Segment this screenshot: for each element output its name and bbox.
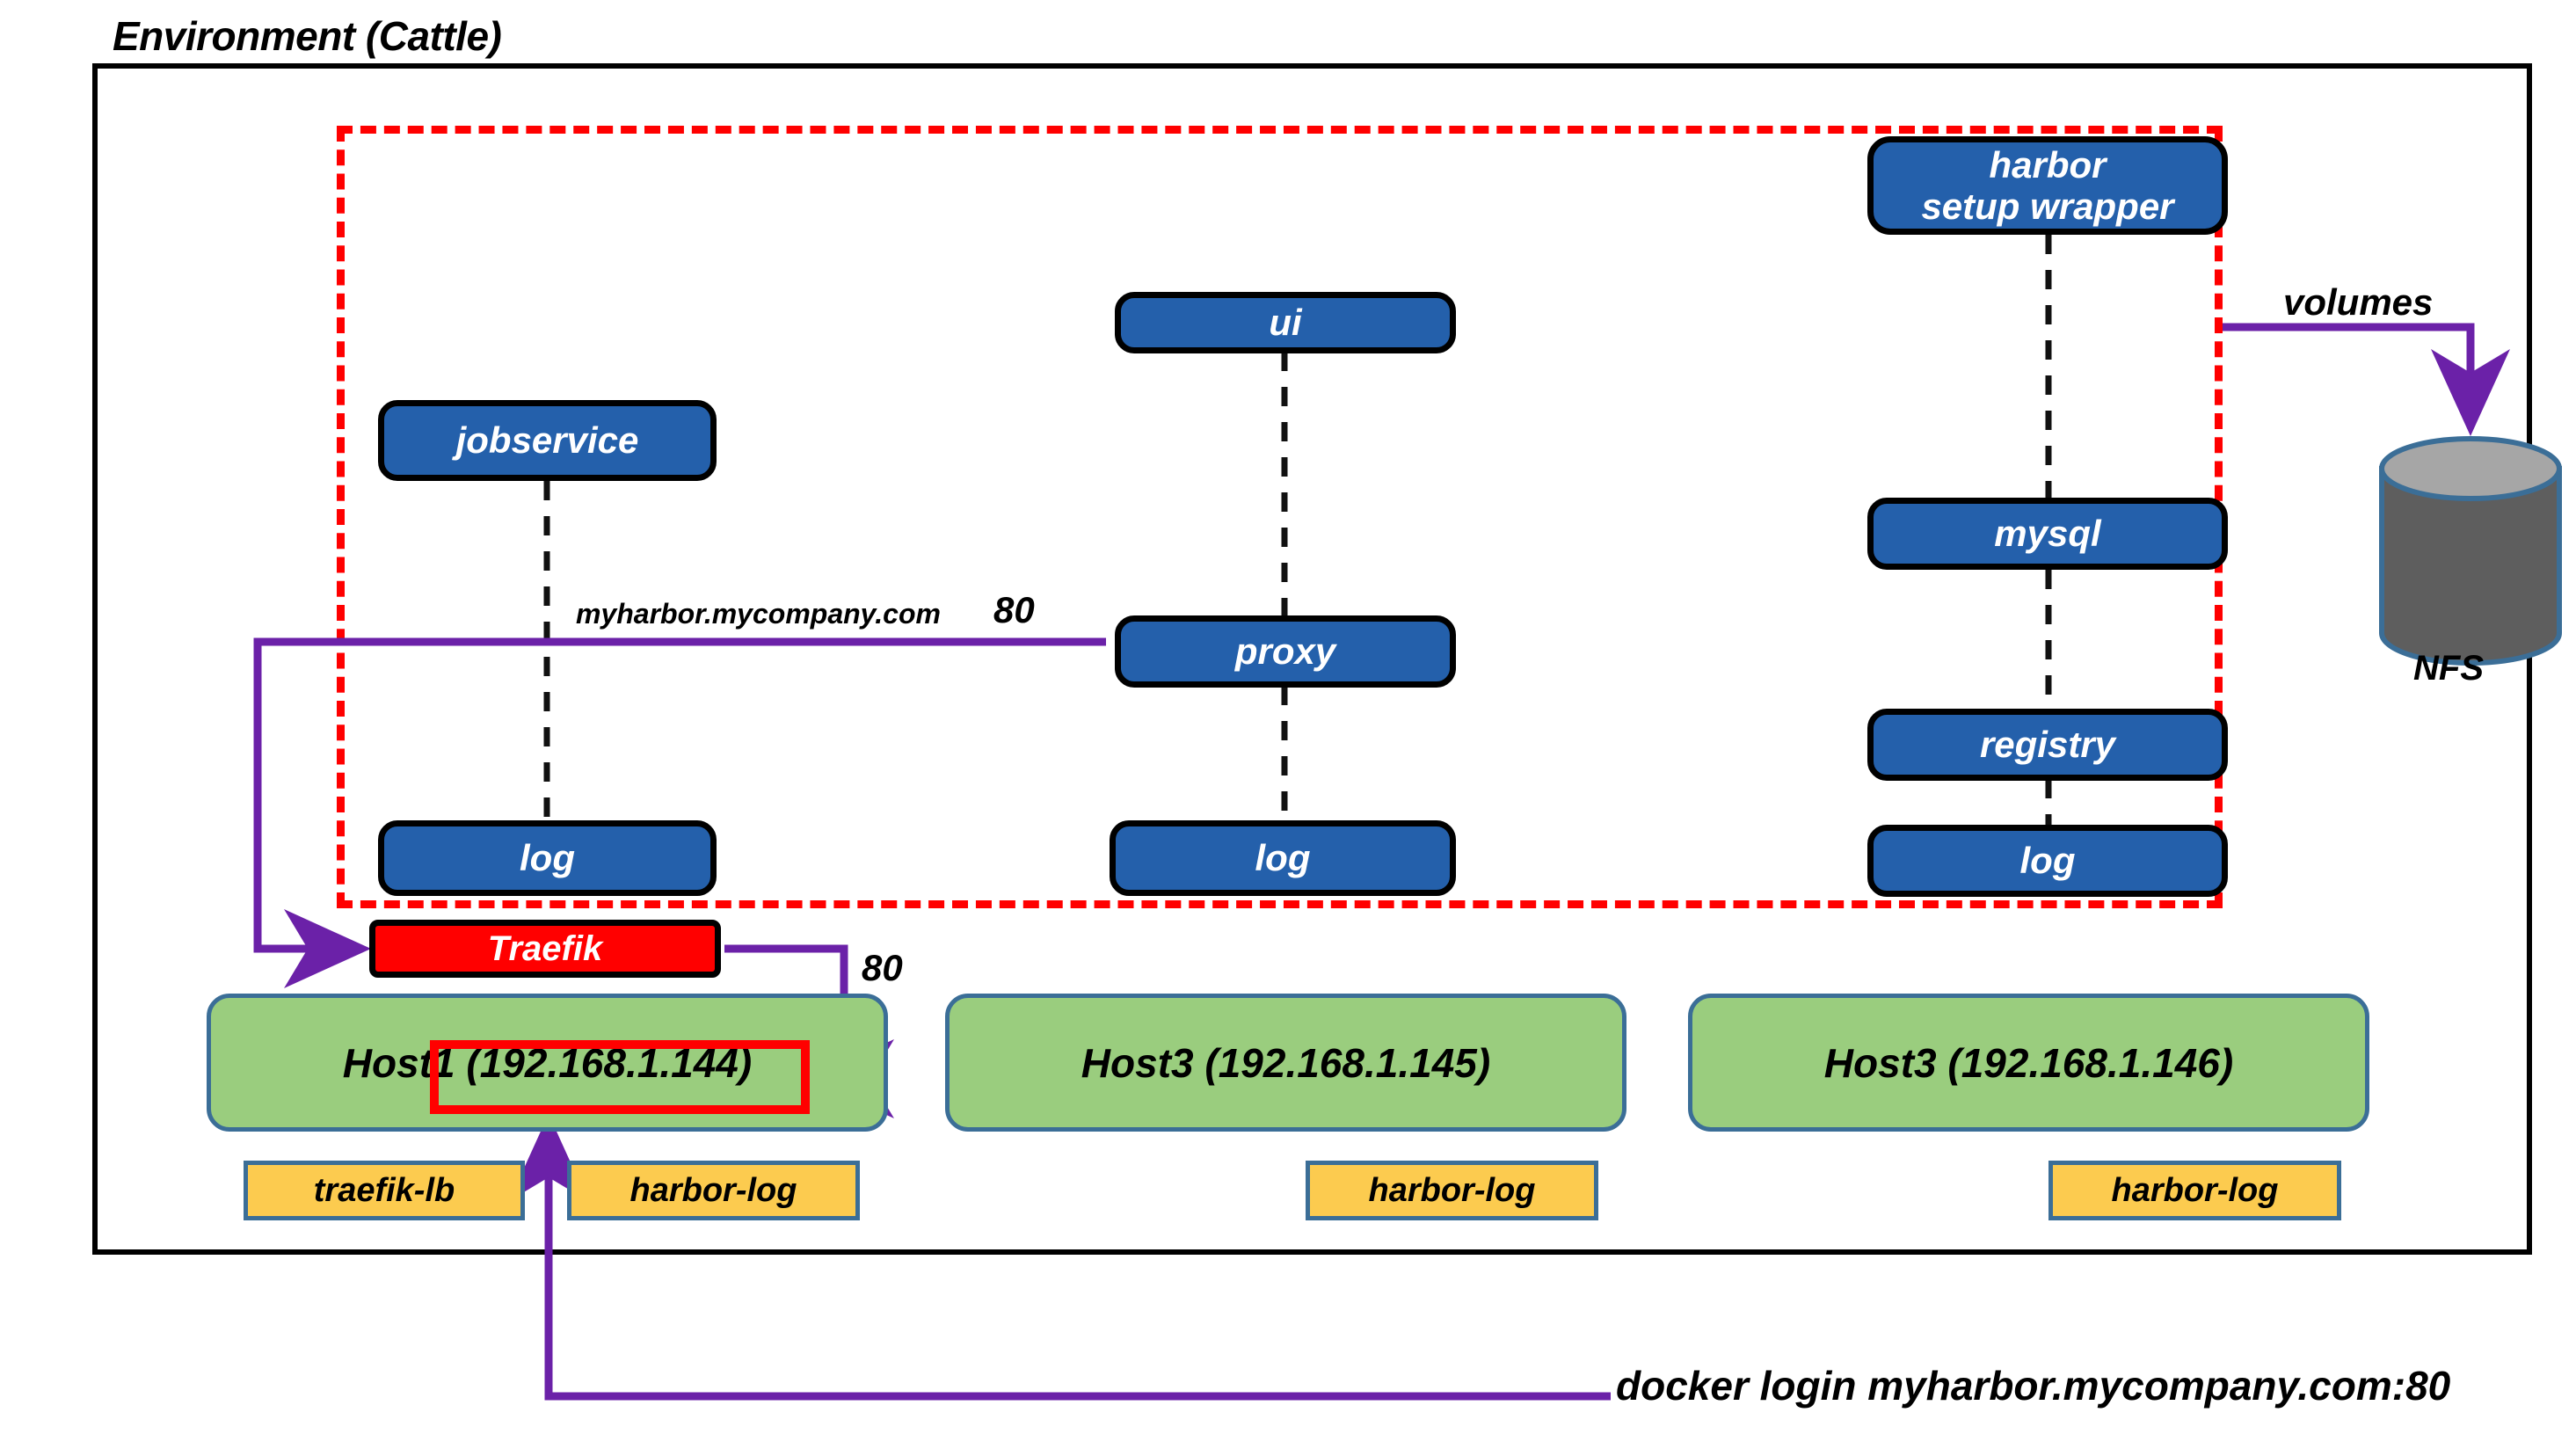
tag-harbor-log-host3[interactable]: harbor-log <box>2048 1161 2341 1220</box>
label-port-traefik: 80 <box>862 947 903 989</box>
tag-harbor-log-host1[interactable]: harbor-log <box>567 1161 860 1220</box>
environment-title: Environment (Cattle) <box>113 12 501 60</box>
host-box-3[interactable]: Host3 (192.168.1.146) <box>1688 994 2369 1132</box>
host1-ip-highlight <box>430 1040 810 1114</box>
service-mysql[interactable]: mysql <box>1867 498 2228 570</box>
label-docker-login-command: docker login myharbor.mycompany.com:80 <box>1616 1362 2450 1409</box>
service-proxy[interactable]: proxy <box>1115 615 1456 688</box>
service-jobservice[interactable]: jobservice <box>378 400 717 481</box>
service-ui[interactable]: ui <box>1115 292 1456 353</box>
label-harbor-domain: myharbor.mycompany.com <box>576 598 941 630</box>
service-registry-log[interactable]: log <box>1867 825 2228 897</box>
service-jobservice-log[interactable]: log <box>378 820 717 896</box>
service-proxy-log[interactable]: log <box>1110 820 1456 896</box>
tag-harbor-log-host2[interactable]: harbor-log <box>1306 1161 1598 1220</box>
diagram-canvas: Environment (Cattle) <box>0 0 2576 1449</box>
traefik-loadbalancer[interactable]: Traefik <box>369 920 721 978</box>
host-box-2[interactable]: Host3 (192.168.1.145) <box>945 994 1626 1132</box>
tag-traefik-lb[interactable]: traefik-lb <box>244 1161 525 1220</box>
label-port-proxy: 80 <box>993 589 1035 631</box>
service-registry[interactable]: registry <box>1867 709 2228 781</box>
label-volumes: volumes <box>2283 281 2433 324</box>
label-nfs: NFS <box>2413 649 2484 688</box>
service-harbor-setup-wrapper[interactable]: harbor setup wrapper <box>1867 136 2228 235</box>
